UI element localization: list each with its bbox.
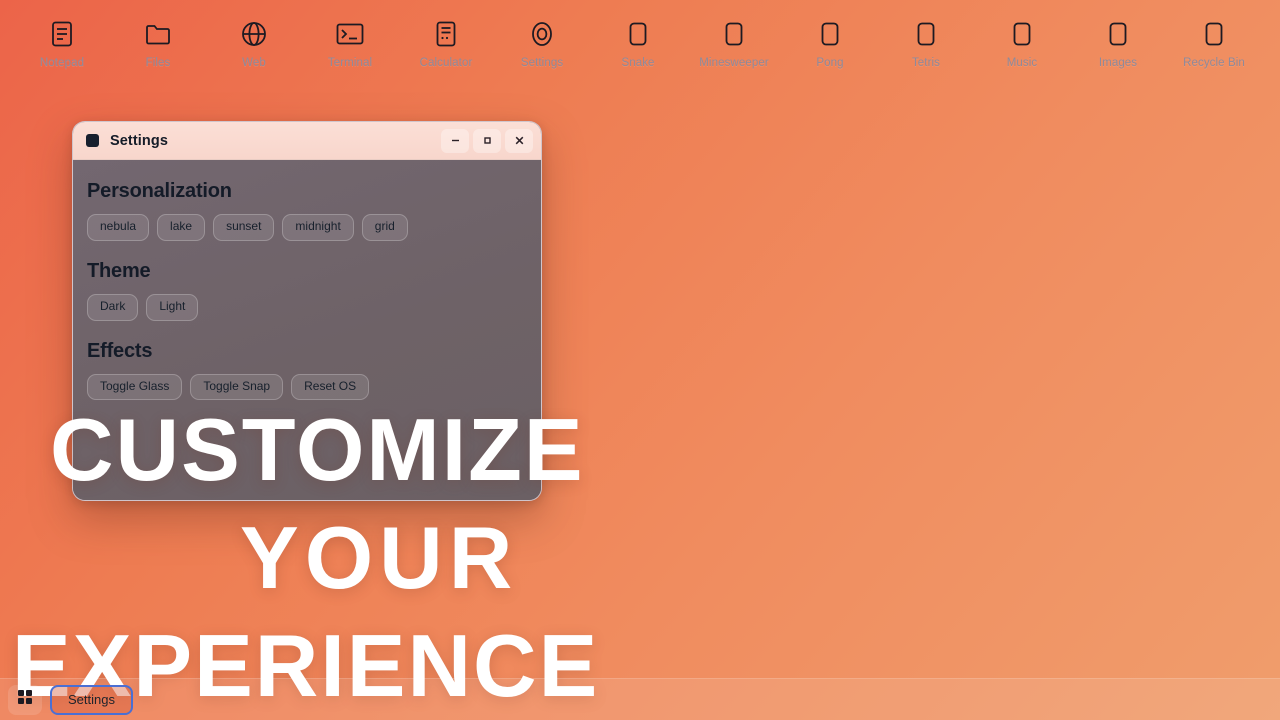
folder-icon bbox=[143, 18, 173, 50]
desktop-icon-label: Web bbox=[242, 57, 266, 69]
desktop-icon-snake[interactable]: Snake bbox=[590, 18, 686, 69]
settings-gear-icon bbox=[527, 18, 557, 50]
section-effects: Effects Toggle Glass Toggle Snap Reset O… bbox=[87, 340, 523, 401]
desktop-icon-recycle-bin[interactable]: Recycle Bin bbox=[1166, 18, 1262, 69]
desktop-icon-label: Calculator bbox=[420, 57, 473, 69]
desktop-icon-web[interactable]: Web bbox=[206, 18, 302, 69]
close-button[interactable] bbox=[505, 129, 533, 153]
app-placeholder-icon bbox=[815, 18, 845, 50]
hero-line-2: YOUR bbox=[240, 518, 518, 599]
wallpaper-chip-sunset[interactable]: sunset bbox=[213, 214, 274, 241]
desktop-icon-label: Images bbox=[1099, 57, 1137, 69]
window-body: Personalization nebula lake sunset midni… bbox=[73, 160, 541, 501]
grid-start-icon bbox=[17, 689, 33, 710]
theme-chip-dark[interactable]: Dark bbox=[87, 294, 138, 321]
wallpaper-chip-nebula[interactable]: nebula bbox=[87, 214, 149, 241]
desktop-icon-label: Notepad bbox=[40, 57, 84, 69]
wallpaper-chip-grid[interactable]: grid bbox=[362, 214, 408, 241]
reset-os-button[interactable]: Reset OS bbox=[291, 374, 369, 401]
section-title: Theme bbox=[87, 260, 523, 283]
section-title: Personalization bbox=[87, 180, 523, 203]
desktop-icon-pong[interactable]: Pong bbox=[782, 18, 878, 69]
desktop: Notepad Files Web bbox=[0, 0, 1280, 720]
app-placeholder-icon bbox=[1199, 18, 1229, 50]
desktop-icon-settings[interactable]: Settings bbox=[494, 18, 590, 69]
desktop-icon-notepad[interactable]: Notepad bbox=[14, 18, 110, 69]
globe-icon bbox=[239, 18, 269, 50]
desktop-icon-label: Tetris bbox=[912, 57, 940, 69]
desktop-icon-terminal[interactable]: Terminal bbox=[302, 18, 398, 69]
taskbar: Settings bbox=[0, 678, 1280, 720]
desktop-icon-label: Files bbox=[146, 57, 171, 69]
effects-chip-row: Toggle Glass Toggle Snap Reset OS bbox=[87, 374, 523, 401]
taskbar-button-label: Settings bbox=[68, 692, 115, 707]
toggle-glass-button[interactable]: Toggle Glass bbox=[87, 374, 182, 401]
app-placeholder-icon bbox=[1007, 18, 1037, 50]
desktop-icon-label: Snake bbox=[621, 57, 654, 69]
app-placeholder-icon bbox=[623, 18, 653, 50]
notepad-icon bbox=[47, 18, 77, 50]
desktop-icon-label: Music bbox=[1007, 57, 1038, 69]
app-placeholder-icon bbox=[1103, 18, 1133, 50]
window-title: Settings bbox=[110, 133, 168, 149]
desktop-icon-calculator[interactable]: Calculator bbox=[398, 18, 494, 69]
theme-chip-row: Dark Light bbox=[87, 294, 523, 321]
section-personalization: Personalization nebula lake sunset midni… bbox=[87, 180, 523, 241]
app-placeholder-icon bbox=[911, 18, 941, 50]
section-title: Effects bbox=[87, 340, 523, 363]
section-theme: Theme Dark Light bbox=[87, 260, 523, 321]
desktop-icon-label: Recycle Bin bbox=[1183, 57, 1245, 69]
app-icon bbox=[86, 134, 99, 147]
desktop-icon-label: Terminal bbox=[328, 57, 372, 69]
desktop-icon-label: Pong bbox=[816, 57, 843, 69]
desktop-icon-grid: Notepad Files Web bbox=[0, 18, 1280, 69]
desktop-icon-label: Minesweeper bbox=[699, 57, 769, 69]
desktop-icon-files[interactable]: Files bbox=[110, 18, 206, 69]
window-titlebar[interactable]: Settings bbox=[73, 122, 541, 160]
wallpaper-chip-lake[interactable]: lake bbox=[157, 214, 205, 241]
theme-chip-light[interactable]: Light bbox=[146, 294, 198, 321]
desktop-icon-images[interactable]: Images bbox=[1070, 18, 1166, 69]
wallpaper-chip-row: nebula lake sunset midnight grid bbox=[87, 214, 523, 241]
calculator-icon bbox=[431, 18, 461, 50]
terminal-icon bbox=[335, 18, 365, 50]
start-button[interactable] bbox=[8, 685, 42, 715]
wallpaper-chip-midnight[interactable]: midnight bbox=[282, 214, 353, 241]
desktop-icon-tetris[interactable]: Tetris bbox=[878, 18, 974, 69]
minimize-button[interactable] bbox=[441, 129, 469, 153]
maximize-button[interactable] bbox=[473, 129, 501, 153]
taskbar-button-settings[interactable]: Settings bbox=[50, 685, 133, 715]
app-placeholder-icon bbox=[719, 18, 749, 50]
desktop-icon-label: Settings bbox=[521, 57, 563, 69]
desktop-icon-minesweeper[interactable]: Minesweeper bbox=[686, 18, 782, 69]
toggle-snap-button[interactable]: Toggle Snap bbox=[190, 374, 283, 401]
settings-window[interactable]: Settings Personalization nebula lake sun… bbox=[72, 121, 542, 501]
desktop-icon-music[interactable]: Music bbox=[974, 18, 1070, 69]
